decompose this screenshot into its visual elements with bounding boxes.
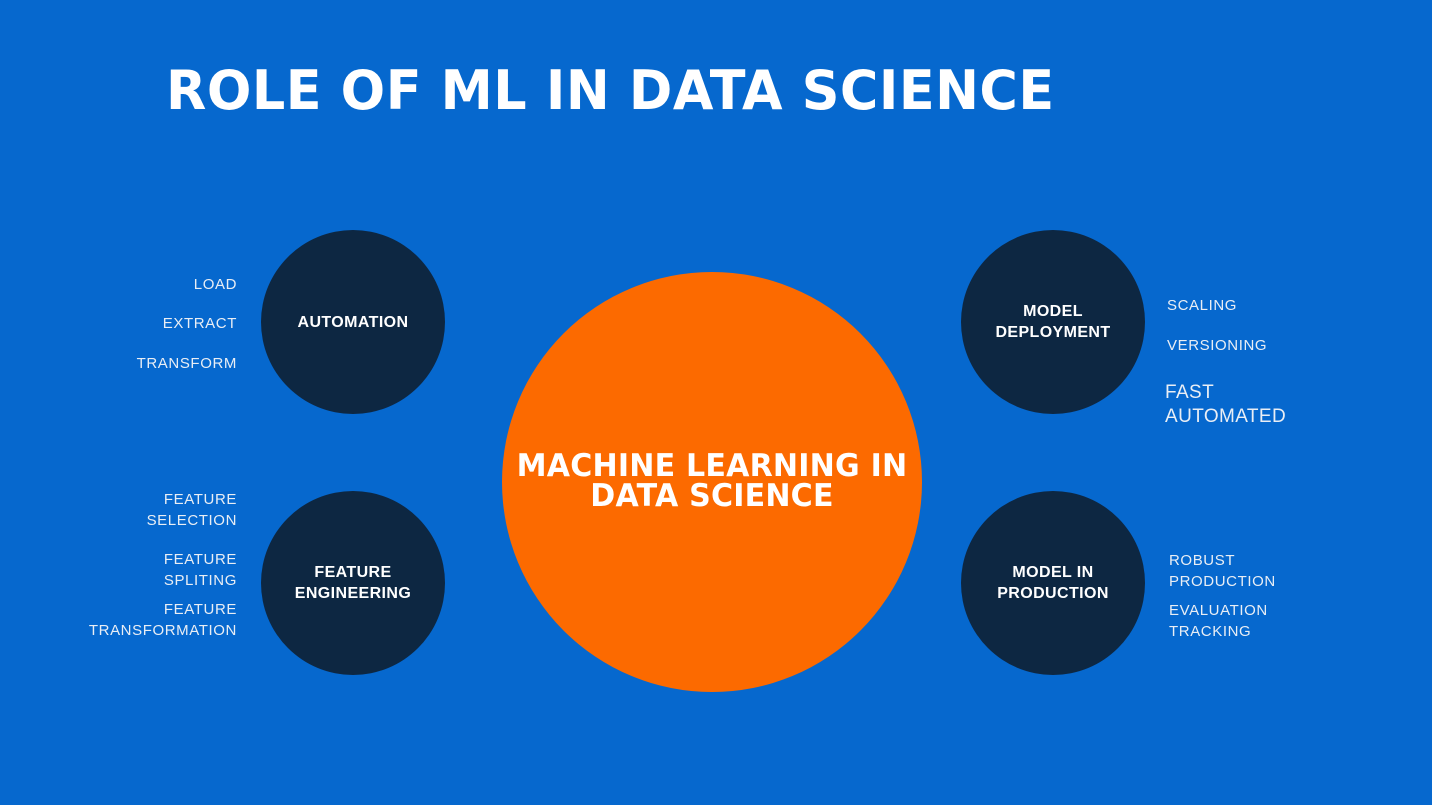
node-automation-label: AUTOMATION xyxy=(290,312,417,333)
node-model-in-production[interactable]: MODEL IN PRODUCTION xyxy=(961,491,1145,675)
page-title: ROLE OF ML IN DATA SCIENCE xyxy=(166,62,1233,120)
keyword-extract: EXTRACT xyxy=(163,313,237,334)
keyword-versioning: VERSIONING xyxy=(1167,335,1267,356)
node-model-deployment[interactable]: MODEL DEPLOYMENT xyxy=(961,230,1145,414)
keyword-fast-automated: FAST AUTOMATED xyxy=(1165,381,1286,429)
node-automation[interactable]: AUTOMATION xyxy=(261,230,445,414)
center-node-machine-learning-in-data-science[interactable]: MACHINE LEARNING IN DATA SCIENCE xyxy=(502,272,922,692)
node-feature-engineering[interactable]: FEATURE ENGINEERING xyxy=(261,491,445,675)
keyword-transform: TRANSFORM xyxy=(137,353,237,374)
node-feature-engineering-label: FEATURE ENGINEERING xyxy=(261,562,445,604)
keyword-load: LOAD xyxy=(194,274,237,295)
node-model-in-production-label: MODEL IN PRODUCTION xyxy=(961,562,1145,604)
keyword-feature-spliting: FEATURE SPLITING xyxy=(164,549,237,591)
keyword-evaluation-tracking: EVALUATION TRACKING xyxy=(1169,600,1268,642)
keyword-robust-production: ROBUST PRODUCTION xyxy=(1169,550,1276,592)
keyword-scaling: SCALING xyxy=(1167,295,1237,316)
center-node-label: MACHINE LEARNING IN DATA SCIENCE xyxy=(508,451,915,511)
keyword-feature-selection: FEATURE SELECTION xyxy=(147,489,237,531)
node-model-deployment-label: MODEL DEPLOYMENT xyxy=(961,301,1145,343)
slide-canvas: ROLE OF ML IN DATA SCIENCE MACHINE LEARN… xyxy=(0,0,1432,805)
keyword-feature-transformation: FEATURE TRANSFORMATION xyxy=(89,599,237,641)
